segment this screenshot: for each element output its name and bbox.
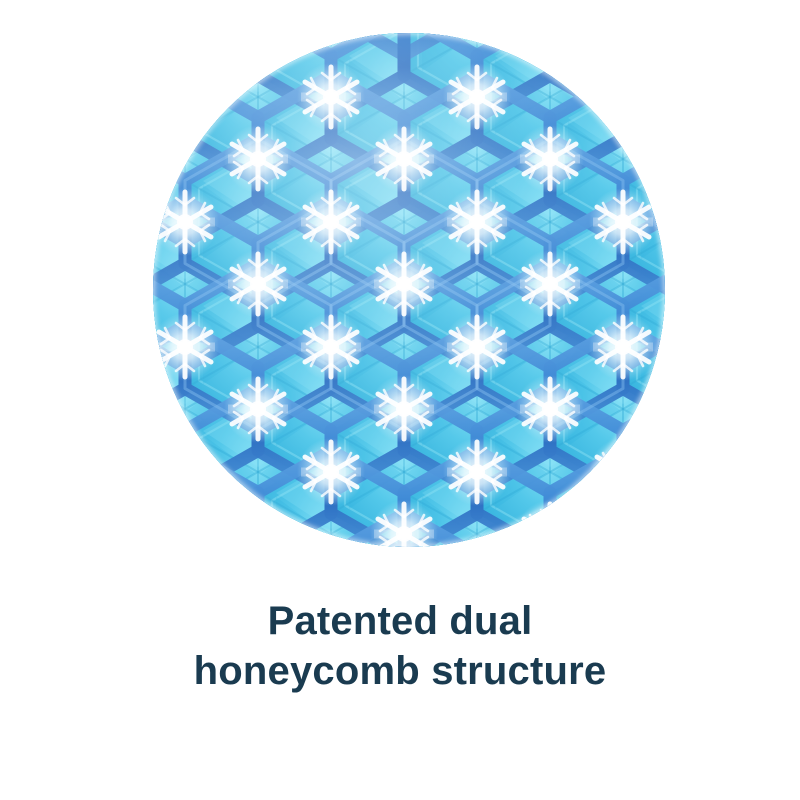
honeycomb-circle-image xyxy=(153,33,665,547)
feature-caption: Patented dual honeycomb structure xyxy=(0,596,800,696)
caption-line-2: honeycomb structure xyxy=(0,646,800,696)
honeycomb-figure xyxy=(153,33,665,547)
product-feature-card: Patented dual honeycomb structure xyxy=(0,0,800,800)
caption-line-1: Patented dual xyxy=(0,596,800,646)
honeycomb-pattern-graphic xyxy=(153,33,665,547)
